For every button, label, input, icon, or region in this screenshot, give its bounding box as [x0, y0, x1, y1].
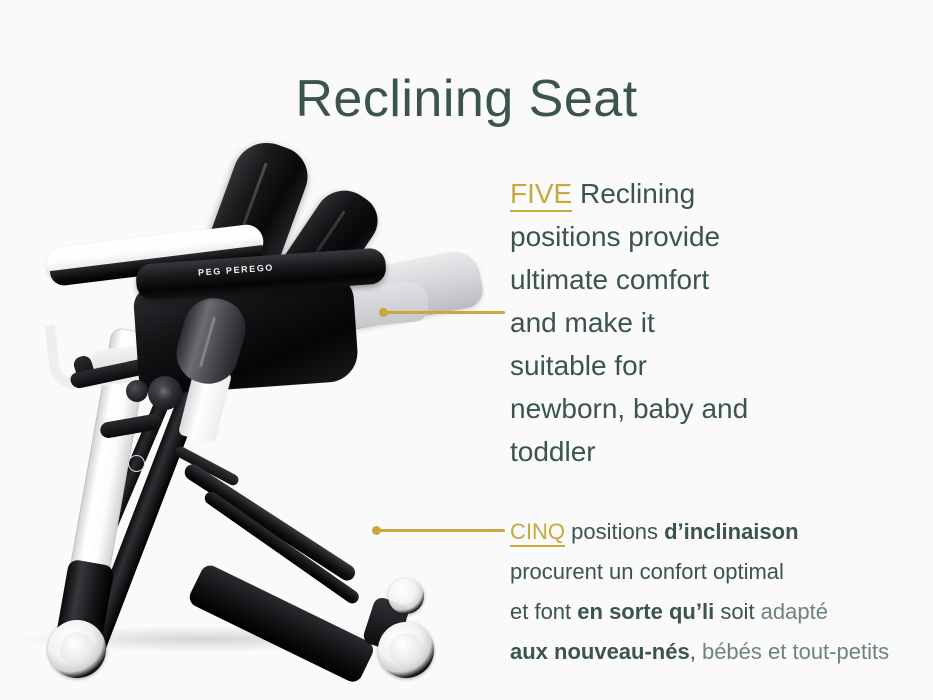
product-image: PEG PEREGO	[0, 130, 470, 690]
callout-text-run: adapté	[761, 599, 828, 624]
callout-text-run: suitable for	[510, 350, 647, 381]
callout-english-line-1: FIVE Reclining	[510, 172, 910, 215]
rear-wheel-hub	[389, 633, 423, 667]
callout-text-run: positions provide	[510, 221, 720, 252]
front-leg-button	[128, 455, 145, 472]
callout-french-line-2: procurent un confort optimal	[510, 552, 930, 592]
pivot-joint-outer	[126, 380, 148, 402]
infographic-canvas: Reclining Seat	[0, 0, 933, 700]
seat-assembly: PEG PEREGO	[40, 130, 470, 430]
callout-text-run: ultimate comfort	[510, 264, 709, 295]
callout-text-run: soit	[714, 599, 760, 624]
leader-line-french	[378, 529, 505, 532]
callout-french-line-3: et font en sorte qu’li soit adapté	[510, 592, 930, 632]
callout-english-line-5: suitable for	[510, 344, 910, 387]
callout-text-run: Reclining	[572, 178, 695, 209]
callout-french: CINQ positions d’inclinaisonprocurent un…	[510, 512, 930, 672]
callout-french-line-4: aux nouveau-nés, bébés et tout-petits	[510, 632, 930, 672]
callout-text-run: and make it	[510, 307, 655, 338]
page-title: Reclining Seat	[0, 69, 933, 129]
callout-english-line-2: positions provide	[510, 215, 910, 258]
callout-text-run: et font	[510, 599, 577, 624]
front-wheel-hub	[60, 632, 94, 666]
callout-text-run: ,	[690, 639, 702, 664]
callout-text-run: d’inclinaison	[664, 519, 798, 544]
callout-french-line-1: CINQ positions d’inclinaison	[510, 512, 930, 552]
callout-text-run: bébés et tout-petits	[702, 639, 889, 664]
callout-english: FIVE Recliningpositions provideultimate …	[510, 172, 910, 473]
callout-keyword: CINQ	[510, 519, 565, 547]
callout-text-run: en sorte qu’li	[577, 599, 714, 624]
callout-english-line-4: and make it	[510, 301, 910, 344]
leader-line-english	[385, 311, 505, 314]
rear-wheel-far	[388, 578, 424, 614]
callout-english-line-3: ultimate comfort	[510, 258, 910, 301]
pivot-joint-center	[158, 386, 172, 400]
callout-keyword: FIVE	[510, 178, 572, 212]
callout-english-line-6: newborn, baby and	[510, 387, 910, 430]
callout-text-run: positions	[565, 519, 664, 544]
callout-english-line-7: toddler	[510, 430, 910, 473]
callout-text-run: procurent un confort optimal	[510, 559, 784, 584]
callout-text-run: aux nouveau-nés	[510, 639, 690, 664]
callout-text-run: toddler	[510, 436, 596, 467]
callout-text-run: newborn, baby and	[510, 393, 748, 424]
